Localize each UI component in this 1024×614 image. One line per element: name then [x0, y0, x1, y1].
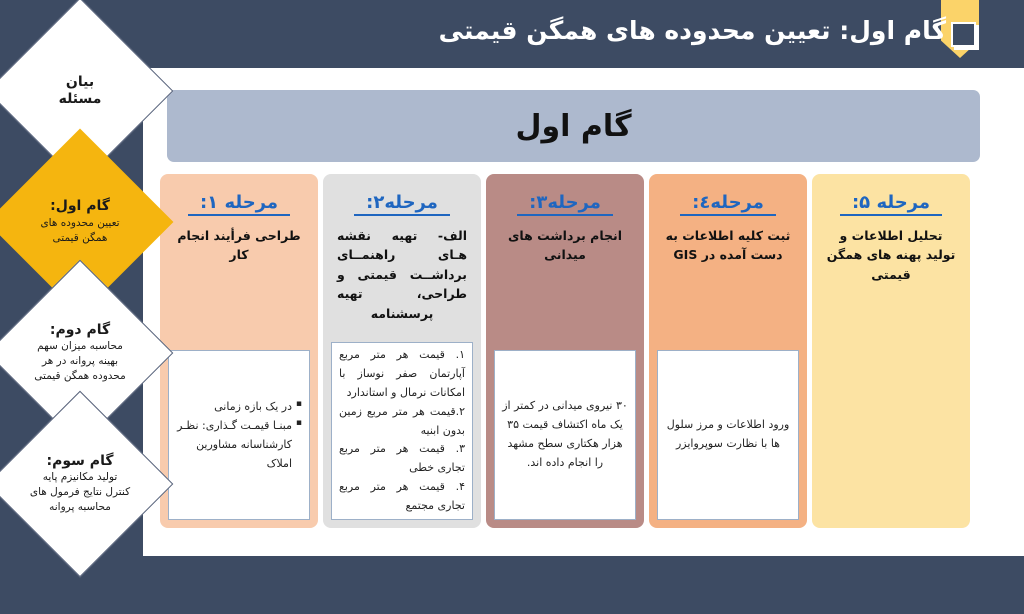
phase-column-heading: مرحله۳: — [517, 190, 613, 216]
rail-diamond-line: تولید مکانیزم پایه — [43, 471, 118, 485]
phase-column-description: الف- تهیه نقشه هـای راهنمــای برداشــت ق… — [331, 226, 473, 323]
phase-column-heading: مرحله ۵: — [840, 190, 942, 216]
rail-diamond-line: محدوده همگن قیمتی — [34, 370, 125, 384]
phase-columns: مرحله ۱:طراحی فرأیند انجام کاردر یک بازه… — [160, 174, 988, 530]
rail-diamond-4[interactable]: گام سوم:تولید مکانیزم پایهکنترل نتایج فر… — [0, 391, 173, 578]
rail-diamond-line: همگن قیمتی — [53, 232, 108, 246]
step-banner-label: گام اول — [515, 109, 631, 144]
rail-diamond-line: محاسبه میزان سهم — [37, 340, 123, 354]
phase-column-2[interactable]: مرحله۲:الف- تهیه نقشه هـای راهنمــای برد… — [323, 174, 481, 528]
phase-column-description: انجام برداشت های میدانی — [494, 226, 636, 265]
phase-column-detail-box: ۱. قیمت هر متر مربع آپارتمان صفر نوساز ب… — [331, 342, 473, 520]
phase-column-4[interactable]: مرحله٤:ثبت کلیه اطلاعات به دست آمده در G… — [649, 174, 807, 528]
detail-paragraph: ورود اطلاعات و مرز سلول ها با نظارت سوپر… — [665, 416, 791, 454]
rail-diamond-title: گام اول: — [50, 198, 110, 216]
phase-column-description: تحلیل اطلاعات و تولید پهنه های همگن قیمت… — [820, 226, 962, 284]
rail-diamond-line: تعیین محدوده های — [40, 217, 119, 231]
detail-bullet: در یک بازه زمانی — [176, 397, 302, 416]
phase-column-1[interactable]: مرحله ۱:طراحی فرأیند انجام کاردر یک بازه… — [160, 174, 318, 528]
phase-column-5[interactable]: مرحله ۵:تحلیل اطلاعات و تولید پهنه های ه… — [812, 174, 970, 528]
rail-diamond-line: مسئله — [59, 91, 102, 109]
detail-numbered-item: ۲.قیمت هر متر مربع زمین بدون ابنیه — [339, 403, 465, 441]
rail-diamond-line: کنترل نتایج فرمول های — [30, 486, 130, 500]
phase-column-detail-box: ۳۰ نیروی میدانی در کمتر از یک ماه اکتشاف… — [494, 350, 636, 520]
phase-column-heading: مرحله ۱: — [188, 190, 290, 216]
step-banner: گام اول — [167, 90, 980, 162]
rail-diamond-content: گام سوم:تولید مکانیزم پایهکنترل نتایج فر… — [15, 419, 145, 549]
rail-diamond-title: گام سوم: — [47, 453, 114, 471]
detail-bullet: مبنـا قیمـت گـذاری: نظـر کارشناسانه مشاو… — [176, 416, 302, 474]
phase-column-heading: مرحله۲: — [354, 190, 450, 216]
phase-column-description: ثبت کلیه اطلاعات به دست آمده در GIS — [657, 226, 799, 265]
rail-diamond-line: بهینه پروانه در هر — [42, 355, 118, 369]
phase-column-description: طراحی فرأیند انجام کار — [168, 226, 310, 265]
detail-paragraph: ۳۰ نیروی میدانی در کمتر از یک ماه اکتشاف… — [502, 397, 628, 473]
phase-column-3[interactable]: مرحله۳:انجام برداشت های میدانی۳۰ نیروی م… — [486, 174, 644, 528]
rail-diamond-line: محاسبه پروانه — [49, 501, 111, 515]
slide-root: گام اول: تعیین محدوده های همگن قیمتی گام… — [0, 0, 1024, 576]
rail-diamond-title: گام دوم: — [50, 322, 110, 340]
step-rail: بیانمسئلهگام اول:تعیین محدوده هایهمگن قی… — [0, 0, 160, 576]
detail-numbered-item: ۴. قیمت هر متر مربع تجاری مجتمع — [339, 478, 465, 516]
page-title: گام اول: تعیین محدوده های همگن قیمتی — [439, 16, 946, 45]
rail-diamond-line: بیان — [66, 74, 94, 92]
phase-column-detail-box: در یک بازه زمانیمبنـا قیمـت گـذاری: نظـر… — [168, 350, 310, 520]
detail-numbered-item: ۱. قیمت هر متر مربع آپارتمان صفر نوساز ب… — [339, 346, 465, 403]
white-square-bullet-icon — [951, 22, 976, 47]
phase-column-detail-box: ورود اطلاعات و مرز سلول ها با نظارت سوپر… — [657, 350, 799, 520]
phase-column-heading: مرحله٤: — [680, 190, 776, 216]
detail-numbered-item: ۳. قیمت هر متر مربع تجاری خطی — [339, 440, 465, 478]
